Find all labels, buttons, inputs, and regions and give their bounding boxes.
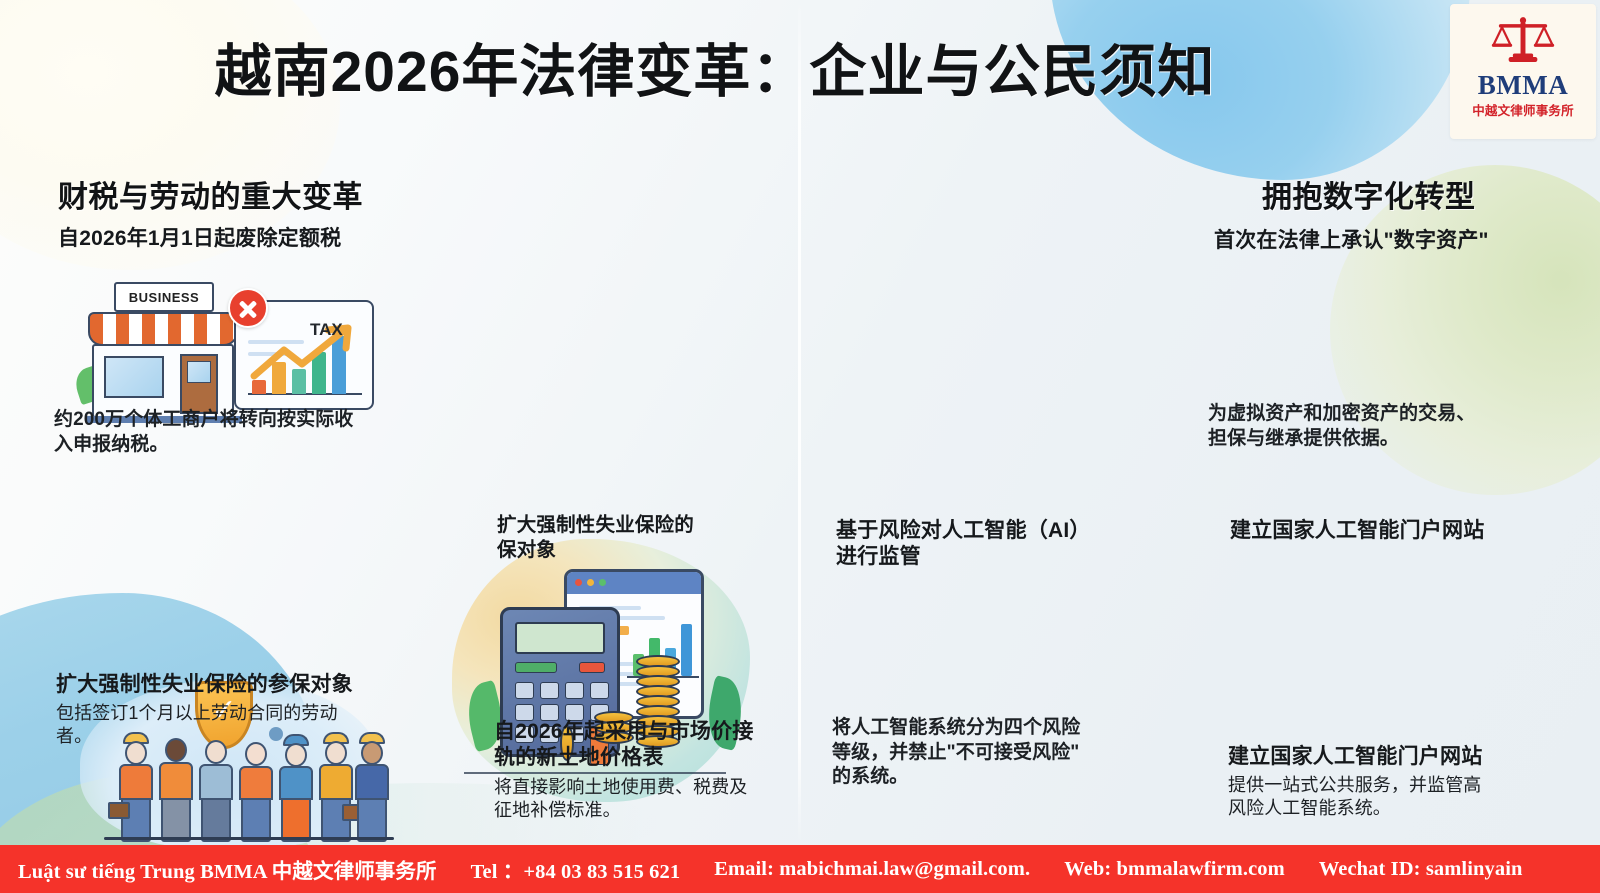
unemployment-insurance-headline: 扩大强制性失业保险的参保对象 (56, 672, 416, 698)
land-price-body: 将直接影响土地使用费、税费及 征地补偿标准。 (494, 776, 794, 823)
land-price-headline: 自2026年起采用与市场价接 轨的新土地价格表 (494, 719, 794, 772)
digital-assets-headline: 首次在法律上承认"数字资产" (1214, 228, 1574, 254)
footer-firm-name: Luật sư tiếng Trung BMMA 中越文律师事务所 (18, 854, 437, 884)
section-heading-digital: 拥抱数字化转型 (1262, 172, 1476, 216)
footer-tel: Tel ：+84 03 83 515 621 (471, 854, 681, 884)
panel-divider (798, 0, 801, 845)
section-heading-fiscal-labor: 财税与劳动的重大变革 (58, 172, 363, 216)
shop-sign-label: BUSINESS (114, 282, 214, 312)
growth-arrow-icon (250, 324, 362, 382)
tax-label: TAX (310, 320, 343, 340)
tax-abolition-body: 约200万个体工商户将转向按实际收 入申报纳税。 (54, 408, 406, 457)
footer-email[interactable]: Email: mabichmai.law@gmail.com. (714, 858, 1030, 881)
prohibition-icon (228, 288, 268, 328)
ai-risk-body: 将人工智能系统分为四个风险 等级，并禁止"不可接受风险" 的系统。 (832, 716, 1132, 790)
page-title: 越南2026年法律变革：企业与公民须知 (0, 26, 1430, 108)
scales-of-justice-icon (1487, 14, 1559, 70)
storefront-tax-chart-illustration: BUSINESS TAX (66, 268, 396, 428)
ai-portal-headline: 建立国家人工智能门户网站 (1228, 744, 1578, 770)
footer-wechat: Wechat ID: samlinyain (1319, 858, 1523, 881)
logo-subtitle: 中越文律师事务所 (1472, 100, 1574, 119)
ai-risk-headline: 基于风险对人工智能（AI） 进行监管 (836, 518, 1136, 571)
logo-brand-text: BMMA (1478, 71, 1568, 99)
footer-contact-bar: Luật sư tiếng Trung BMMA 中越文律师事务所 Tel ：+… (0, 845, 1600, 893)
ai-portal-headline-top: 建立国家人工智能门户网站 (1230, 518, 1570, 544)
land-price-headline-top: 扩大强制性失业保险的 保对象 (497, 513, 787, 562)
ai-portal-body: 提供一站式公共服务，并监管高 风险人工智能系统。 (1228, 774, 1578, 821)
cell-tax-abolition: 自2026年1月1日起废除定额税 (58, 226, 408, 252)
tax-abolition-headline: 自2026年1月1日起废除定额税 (58, 226, 408, 252)
digital-assets-body: 为虚拟资产和加密资产的交易、 担保与继承提供依据。 (1208, 402, 1558, 451)
unemployment-insurance-body: 包括签订1个月以上劳动合同的劳动 者。 (56, 702, 416, 749)
bmma-logo: BMMA 中越文律师事务所 (1450, 4, 1596, 139)
footer-web[interactable]: Web: bmmalawfirm.com (1064, 858, 1285, 881)
infographic-poster: 越南2026年法律变革：企业与公民须知 BMMA 中越文律师事务所 财税与劳动的… (0, 0, 1600, 893)
